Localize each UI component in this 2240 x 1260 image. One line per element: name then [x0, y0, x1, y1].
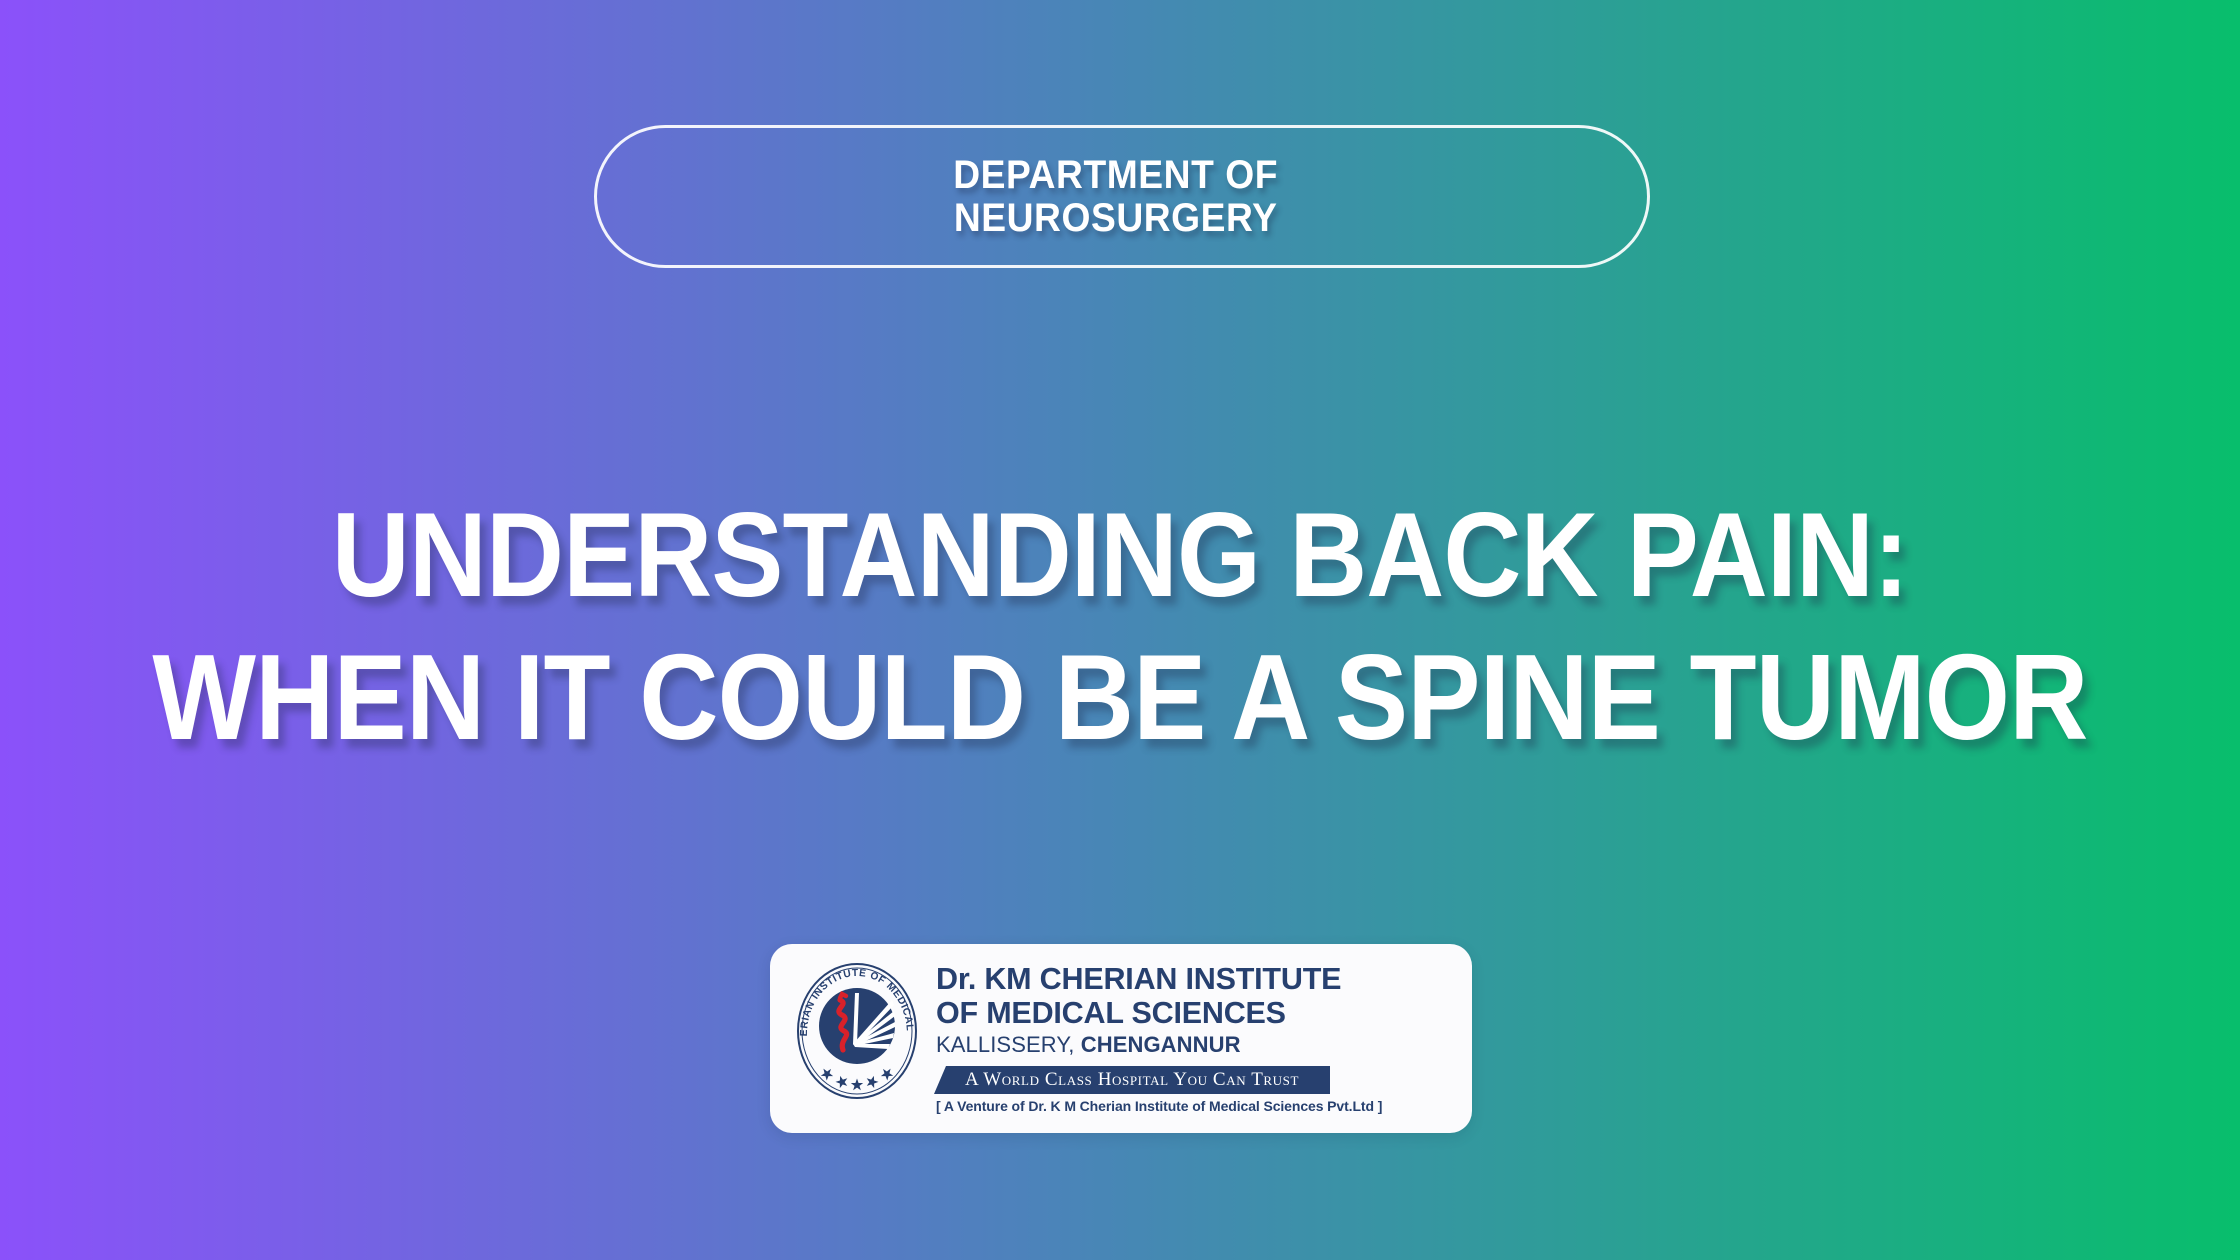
- hospital-logo-text-block: Dr. KM CHERIAN INSTITUTE OF MEDICAL SCIE…: [936, 962, 1456, 1114]
- hospital-location-village: KALLISSERY,: [936, 1032, 1081, 1057]
- page-title-line-1: UNDERSTANDING BACK PAIN:: [112, 484, 2128, 626]
- page-title: UNDERSTANDING BACK PAIN: WHEN IT COULD B…: [0, 484, 2240, 768]
- hospital-seal-icon: Dr. KM CHERIAN INSTITUTE OF MEDICAL SCIE…: [793, 960, 921, 1102]
- hospital-location: KALLISSERY, CHENGANNUR: [936, 1032, 1456, 1058]
- department-badge: DEPARTMENT OF NEUROSURGERY: [594, 125, 1650, 268]
- hospital-tagline-banner: A World Class Hospital You Can Trust: [934, 1066, 1330, 1094]
- hospital-location-town: CHENGANNUR: [1081, 1032, 1241, 1057]
- hospital-venture-note: [ A Venture of Dr. K M Cherian Institute…: [936, 1098, 1332, 1114]
- page-title-line-2: WHEN IT COULD BE A SPINE TUMOR: [112, 626, 2128, 768]
- poster-canvas: DEPARTMENT OF NEUROSURGERY UNDERSTANDING…: [0, 0, 2240, 1260]
- hospital-name-line-1: Dr. KM CHERIAN INSTITUTE: [936, 962, 1456, 996]
- hospital-tagline-text: A World Class Hospital You Can Trust: [965, 1069, 1299, 1091]
- hospital-name-line-2: OF MEDICAL SCIENCES: [936, 996, 1456, 1030]
- department-badge-label: DEPARTMENT OF NEUROSURGERY: [954, 154, 1279, 239]
- hospital-logo-card: Dr. KM CHERIAN INSTITUTE OF MEDICAL SCIE…: [770, 944, 1472, 1133]
